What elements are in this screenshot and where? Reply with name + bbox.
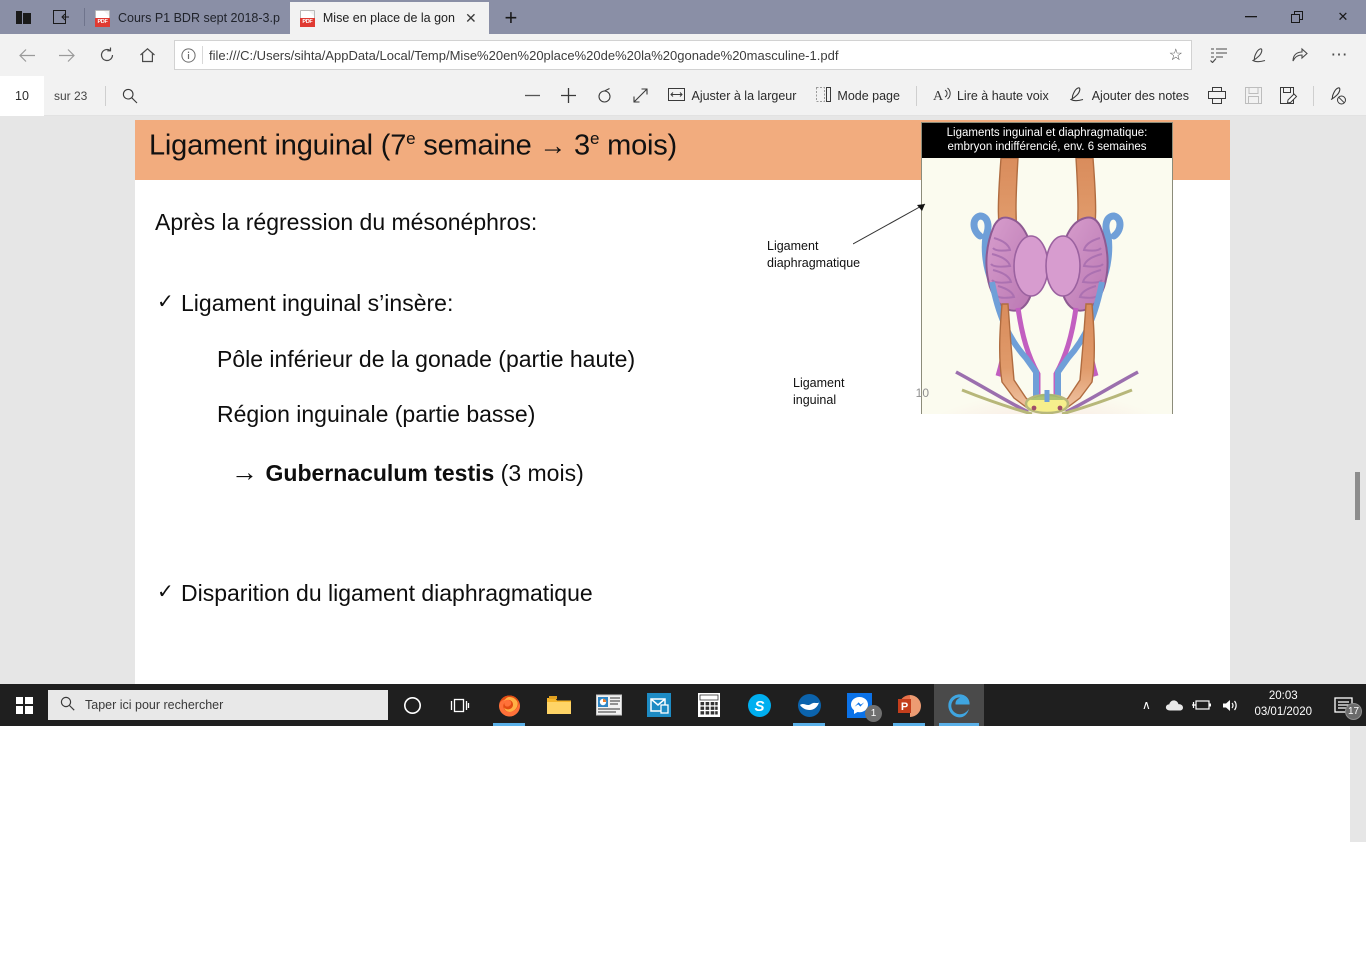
spacer [155,321,775,343]
clock-time: 20:03 [1254,689,1312,705]
reading-list-icon[interactable] [1200,38,1238,72]
volume-icon[interactable] [1216,684,1244,726]
slide-subitem-3-rest: (3 mois) [494,460,583,486]
slide-bullet-1: Ligament inguinal s’insère: [155,287,775,320]
cortana-circle-icon[interactable] [388,684,436,726]
page-total-label: sur 23 [44,89,99,103]
page-number-input[interactable]: 10 [0,76,44,116]
forward-icon[interactable] [48,38,86,72]
slide-title: Ligament inguinal (7e semaine → 3e mois) [149,129,677,163]
page-mode-label: Mode page [837,89,900,103]
browser-tab-0-title: Cours P1 BDR sept 2018-3.p [118,11,280,25]
chevron-up-icon[interactable]: ∧ [1132,684,1160,726]
pdf-page-10: Ligament inguinal (7e semaine → 3e mois)… [135,120,1230,720]
browser-tab-strip: Cours P1 BDR sept 2018-3.p Mise en place… [0,0,1366,34]
figure-1-annotation-diaphragmatic: Ligament diaphragmatique [767,238,877,272]
toolbar-divider [105,86,106,106]
zoom-in-button[interactable] [550,81,586,111]
add-notes-button[interactable]: Ajouter des notes [1059,81,1199,111]
svg-text:A: A [933,89,944,102]
task-view-icon[interactable] [436,684,484,726]
tab-manager-icon[interactable] [4,0,42,34]
fit-width-label: Ajuster à la largeur [691,89,796,103]
start-button[interactable] [0,684,48,726]
slide-subitem-2: Région inguinale (partie basse) [155,398,775,431]
taskbar-clock[interactable]: 20:03 03/01/2020 [1244,689,1322,720]
search-icon [60,696,75,714]
back-icon[interactable] [8,38,46,72]
annotation-line2: inguinal [793,392,893,409]
browser-tab-1[interactable]: Mise en place de la gon ✕ [290,2,489,34]
close-button[interactable]: ✕ [1320,0,1366,34]
slide-body: Après la régression du mésonéphros: Liga… [155,206,775,610]
address-bar-url[interactable]: file:///C:/Users/sihta/AppData/Local/Tem… [209,48,1163,63]
notes-pen-icon[interactable] [1240,38,1278,72]
taskbar-app-messenger[interactable]: 1 [834,684,884,726]
page-mode-icon [816,87,831,105]
address-bar-divider [202,46,203,64]
taskbar-app-calculator[interactable] [684,684,734,726]
taskbar-app-edge[interactable] [934,684,984,726]
spacer [155,431,775,453]
fit-width-button[interactable]: Ajuster à la largeur [658,81,806,111]
vertical-scrollbar-thumb[interactable] [1355,472,1360,520]
figure-1-caption-line1: Ligaments inguinal et diaphragmatique: [926,126,1168,140]
slide-subitem-3: → Gubernaculum testis (3 mois) [155,453,775,492]
save-as-icon[interactable] [1271,81,1307,111]
spacer [155,535,775,577]
taskbar-app-mail[interactable] [634,684,684,726]
site-info-icon[interactable] [181,48,196,63]
taskbar-search-placeholder: Taper ici pour rechercher [85,698,223,712]
taskbar-app-skype[interactable]: S [734,684,784,726]
slide-title-sup2: e [590,129,599,148]
new-tab-button[interactable]: + [489,2,533,34]
slide-title-part2: semaine [415,130,539,162]
pdf-document-area[interactable]: Ligament inguinal (7e semaine → 3e mois)… [0,116,1366,726]
home-icon[interactable] [128,38,166,72]
browser-navigation-bar: file:///C:/Users/sihta/AppData/Local/Tem… [0,34,1366,76]
svg-text:P: P [900,701,907,713]
figure-1-annotation-inguinal: Ligament inguinal Gubernaculum testis, e… [793,375,893,409]
toolbar-divider [1313,86,1314,106]
rotate-icon[interactable] [586,81,622,111]
slide-subitem-3-bold: Gubernaculum testis [266,460,495,486]
page-mode-button[interactable]: Mode page [806,81,910,111]
window-controls: ✕ [1228,0,1366,34]
clear-ink-icon[interactable] [1320,81,1356,111]
annotation-line2: diaphragmatique [767,255,877,272]
fullscreen-icon[interactable] [622,81,658,111]
pdf-viewer-toolbar: 10 sur 23 Ajuster à la largeur Mode page… [0,76,1366,116]
figure-1-caption-line2: embryon indifférencié, env. 6 semaines [926,140,1168,154]
notifications-count-badge: 17 [1345,703,1362,720]
taskbar-app-powerpoint-viewer[interactable] [584,684,634,726]
slide-title-part4: mois) [599,130,677,162]
favorite-star-icon[interactable]: ☆ [1169,45,1185,65]
spacer [155,493,775,535]
tab-strip-system-buttons [0,0,84,34]
share-icon[interactable] [1280,38,1318,72]
taskbar-app-powerpoint[interactable]: P [884,684,934,726]
address-bar[interactable]: file:///C:/Users/sihta/AppData/Local/Tem… [174,40,1192,70]
figure-1-caption: Ligaments inguinal et diaphragmatique: e… [922,123,1172,158]
taskbar-app-file-explorer[interactable] [534,684,584,726]
embryo-ligaments-diagram [922,158,1172,414]
slide-bullet-2: Disparition du ligament diaphragmatique [155,577,775,610]
vertical-scrollbar[interactable] [1350,232,1366,842]
pen-icon [1069,86,1086,105]
windows-taskbar: Taper ici pour rechercher S 1 P ∧ [0,684,1366,726]
system-tray: ∧ 20:03 03/01/2020 17 [1132,684,1366,726]
slide-title-part3: 3 [566,130,590,162]
browser-tab-0[interactable]: Cours P1 BDR sept 2018-3.p [85,2,290,34]
arrow-right-icon: → [539,131,566,161]
slide-intro-line: Après la régression du mésonéphros: [155,206,775,239]
clock-date: 03/01/2020 [1254,705,1312,721]
battery-icon[interactable] [1188,684,1216,726]
print-icon[interactable] [1199,81,1235,111]
slide-subitem-1: Pôle inférieur de la gonade (partie haut… [155,343,775,376]
slide-page-number: 10 [916,385,929,401]
set-aside-tabs-icon[interactable] [42,0,80,34]
taskbar-app-nordvpn[interactable] [784,684,834,726]
browser-actions: ⋯ [1200,38,1358,72]
more-options-icon[interactable]: ⋯ [1320,38,1358,72]
taskbar-search-box[interactable]: Taper ici pour rechercher [48,690,388,720]
pdf-icon [95,10,110,27]
read-aloud-icon: A [933,87,951,105]
figure-1: Ligaments inguinal et diaphragmatique: e… [921,122,1173,414]
annotation-line1: Ligament [793,375,893,392]
taskbar-app-firefox[interactable] [484,684,534,726]
browser-tab-1-title: Mise en place de la gon [323,11,455,25]
svg-text:S: S [754,698,764,715]
refresh-icon[interactable] [88,38,126,72]
read-aloud-label: Lire à haute voix [957,89,1049,103]
messenger-badge-count: 1 [865,705,882,722]
search-icon[interactable] [112,81,148,111]
close-icon[interactable]: ✕ [463,10,479,27]
minimize-button[interactable] [1228,0,1274,34]
windows-logo-icon [16,697,33,714]
onedrive-icon[interactable] [1160,684,1188,726]
figure-1-illustration [922,158,1172,414]
save-icon[interactable] [1235,81,1271,111]
toolbar-divider [916,86,917,106]
restore-button[interactable] [1274,0,1320,34]
action-center-button[interactable]: 17 [1322,684,1366,726]
zoom-out-button[interactable] [514,81,550,111]
arrow-right-icon: → [231,457,266,487]
read-aloud-button[interactable]: A Lire à haute voix [923,81,1059,111]
spacer [155,376,775,398]
fit-width-icon [668,88,685,104]
add-notes-label: Ajouter des notes [1092,89,1189,103]
annotation-line1: Ligament [767,238,877,255]
slide-title-part1: Ligament inguinal (7 [149,130,406,162]
pdf-icon [300,10,315,27]
